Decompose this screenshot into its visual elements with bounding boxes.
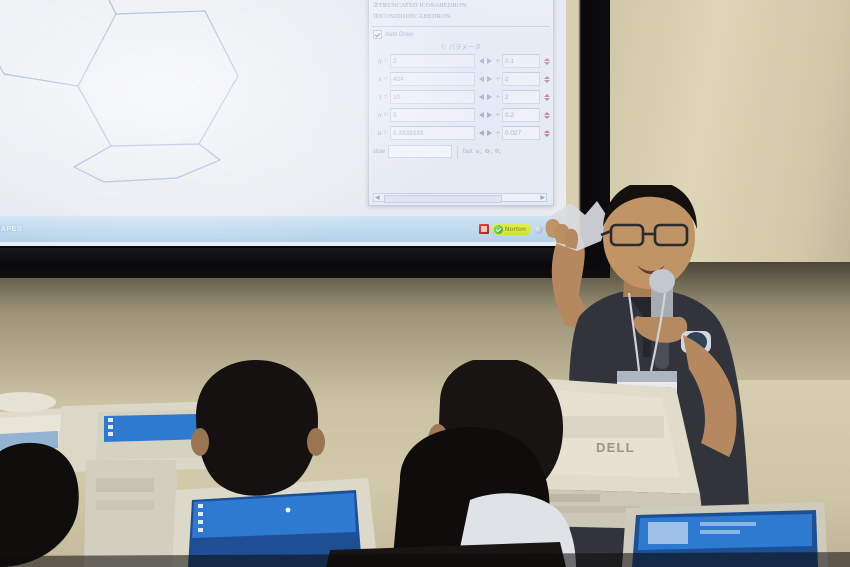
parameter-row-a[interactable]: a = 0.3333333 + 0.027 [372,124,550,142]
param-arrows-u[interactable] [477,112,494,118]
param-plus-u: + [496,112,500,119]
param-value-s[interactable]: 424 [390,72,475,86]
param-next-icon-s[interactable] [487,76,492,82]
polyhedron-item-2[interactable]: ②TRUNCATED ICOSAHEDRON [373,0,550,11]
speed-slider[interactable] [388,145,452,158]
param-prev-icon-a[interactable] [479,130,484,136]
computer-tower-left [84,460,180,567]
spinner-up-icon-q[interactable] [544,58,550,61]
spinner-down-icon-a[interactable] [544,134,550,137]
auto-draw-row[interactable]: Auto Draw [369,27,553,40]
fraction-button-2[interactable]: Φ⁄₁ [485,149,492,155]
audience-and-equipment: DELL [0,360,850,567]
param-prev-icon-t[interactable] [479,94,484,100]
spinner-up-icon-s[interactable] [544,76,550,79]
refresh-icon: ↻ [441,44,447,51]
param-prev-icon-u[interactable] [479,112,484,118]
scrollbar-thumb[interactable] [384,195,502,203]
param-step-q[interactable]: 0.1 [502,54,540,68]
parameter-row-t[interactable]: t = 10 + 2 [372,88,550,106]
param-label-t: t = [372,93,388,101]
spinner-down-icon-s[interactable] [544,80,550,83]
param-plus-a: + [496,130,500,137]
parameter-row-s[interactable]: s = 424 + 2 [372,70,550,88]
polyhedron-wireframe [0,0,324,218]
microphone-head [649,269,675,293]
footer-divider [457,145,458,158]
grapes-parameter-dialog[interactable]: ①DODECAHEDRON ②TRUNCATED ICOSAHEDRON ③IC… [368,0,554,206]
param-label-s: s = [372,75,388,83]
fast-label: fast [463,149,473,155]
param-arrows-s[interactable] [477,76,494,82]
param-value-a[interactable]: 0.3333333 [390,126,475,140]
windows-taskbar[interactable]: GRAPES Norton [0,216,562,242]
param-label-u: u = [372,111,388,119]
adobe-tray-icon[interactable] [479,224,489,234]
taskbar-app-button-grapes[interactable]: GRAPES [0,226,22,233]
parameter-row-q[interactable]: q = 2 + 0.1 [372,52,550,70]
param-label-a: a = [372,129,388,137]
param-spinner-a[interactable] [542,130,550,137]
param-value-u[interactable]: 5 [390,108,475,122]
param-step-u[interactable]: 0.2 [502,108,540,122]
param-arrows-a[interactable] [477,130,494,136]
param-next-icon-a[interactable] [487,130,492,136]
param-spinner-t[interactable] [542,94,550,101]
polyhedron-list: ①DODECAHEDRON ②TRUNCATED ICOSAHEDRON ③IC… [369,0,553,24]
auto-draw-label: Auto Draw [385,32,413,38]
param-value-t[interactable]: 10 [390,90,475,104]
spinner-up-icon-t[interactable] [544,94,550,97]
param-next-icon-q[interactable] [487,58,492,64]
grapes-drawing-canvas[interactable]: ①DODECAHEDRON ②TRUNCATED ICOSAHEDRON ③IC… [0,0,568,218]
slow-label: slow [373,149,385,155]
lecture-scene: ①DODECAHEDRON ②TRUNCATED ICOSAHEDRON ③IC… [0,0,850,567]
parameter-grid: q = 2 + 0.1 s = [369,52,553,142]
param-value-q[interactable]: 2 [390,54,475,68]
param-step-t[interactable]: 2 [502,90,540,104]
dell-brand-text: DELL [596,440,635,455]
attendee-center-left [196,360,318,496]
param-plus-s: + [496,76,500,83]
parameter-row-u[interactable]: u = 5 + 0.2 [372,106,550,124]
spinner-up-icon-a[interactable] [544,130,550,133]
attendee-left [0,443,79,567]
spinner-down-icon-t[interactable] [544,98,550,101]
param-spinner-q[interactable] [542,58,550,65]
parameter-title-text: パラメータ [448,44,481,51]
param-step-s[interactable]: 2 [502,72,540,86]
param-spinner-u[interactable] [542,112,550,119]
polyhedron-item-3[interactable]: ③ICOSIDODECAHEDRON [373,11,550,22]
panel-footer: slow fast x⁄₂ Φ⁄₁ θ⁄₂ [369,142,553,158]
spinner-down-icon-q[interactable] [544,62,550,65]
fraction-button-3[interactable]: θ⁄₂ [495,149,501,155]
param-next-icon-t[interactable] [487,94,492,100]
param-label-q: q = [372,57,388,65]
param-plus-q: + [496,58,500,65]
fraction-button-1[interactable]: x⁄₂ [476,149,482,155]
param-plus-t: + [496,94,500,101]
param-spinner-s[interactable] [542,76,550,83]
param-arrows-q[interactable] [477,58,494,64]
param-arrows-t[interactable] [477,94,494,100]
spinner-up-icon-u[interactable] [544,112,550,115]
auto-draw-checkbox[interactable] [373,30,382,39]
param-step-a[interactable]: 0.027 [502,126,540,140]
param-prev-icon-s[interactable] [479,76,484,82]
norton-check-icon [494,225,503,234]
param-prev-icon-q[interactable] [479,58,484,64]
spinner-down-icon-u[interactable] [544,116,550,119]
param-next-icon-u[interactable] [487,112,492,118]
scroll-left-icon[interactable]: ◀ [375,195,380,201]
parameter-section-title: ↻パラメータ [369,40,553,52]
projected-desktop: ①DODECAHEDRON ②TRUNCATED ICOSAHEDRON ③IC… [0,0,568,246]
